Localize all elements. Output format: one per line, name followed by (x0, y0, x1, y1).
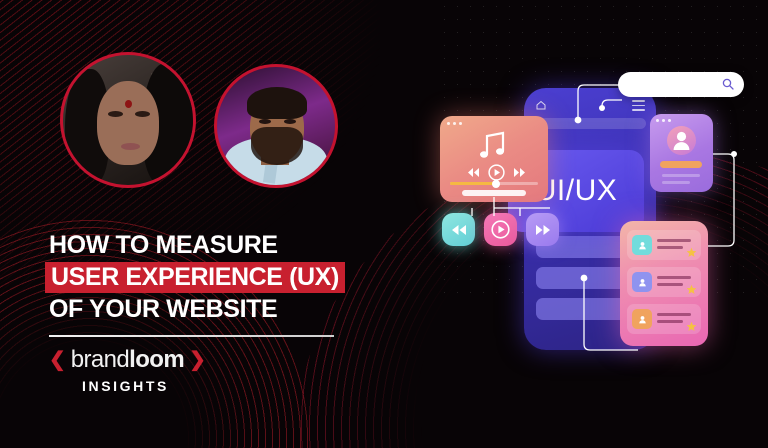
media-button-group (442, 213, 559, 246)
window-dots-icon (656, 119, 671, 122)
home-icon (536, 100, 546, 110)
search-icon (722, 78, 734, 90)
logo-tagline: INSIGHTS (82, 378, 169, 394)
music-player-card (440, 116, 548, 202)
avatar-group (60, 52, 338, 188)
progress-knob[interactable] (492, 180, 500, 188)
play-button[interactable] (484, 213, 517, 246)
headline-line-1: HOW TO MEASURE (49, 232, 369, 259)
rewind-icon (452, 225, 466, 235)
user-icon (632, 272, 652, 292)
headline-block: HOW TO MEASURE USER EXPERIENCE (UX) OF Y… (49, 232, 369, 323)
star-icon (686, 321, 697, 332)
logo-wordmark: brandloom (71, 348, 184, 372)
avatar-person-1 (60, 52, 196, 188)
ui-ux-illustration: UI/UX (432, 58, 762, 398)
banner-root: HOW TO MEASURE USER EXPERIENCE (UX) OF Y… (0, 0, 768, 448)
brandloom-logo: ❮ brandloom ❯ (49, 348, 206, 372)
music-card-pill-bar (462, 190, 526, 196)
review-list-card (620, 221, 708, 346)
profile-text-line (662, 174, 700, 177)
list-item[interactable] (627, 267, 701, 297)
list-item[interactable] (627, 304, 701, 334)
rewind-icon (468, 168, 479, 177)
phone-search-field (536, 118, 646, 129)
profile-card (650, 114, 713, 192)
star-icon (686, 247, 697, 258)
window-dots-icon (447, 122, 462, 125)
profile-action-pill[interactable] (660, 161, 702, 168)
progress-bar[interactable] (450, 182, 538, 185)
logo-word-bold: loom (129, 346, 184, 373)
fast-forward-icon (536, 225, 550, 235)
user-icon (632, 235, 652, 255)
user-avatar-icon (667, 126, 696, 155)
profile-text-line (662, 181, 690, 184)
rewind-button[interactable] (442, 213, 475, 246)
music-card-controls (468, 164, 525, 181)
divider-line (49, 335, 334, 337)
play-icon (488, 164, 505, 181)
bracket-right-icon: ❯ (189, 350, 206, 370)
list-item[interactable] (627, 230, 701, 260)
music-note-icon (476, 130, 510, 160)
user-icon (632, 309, 652, 329)
headline-line-3: OF YOUR WEBSITE (49, 296, 369, 323)
forward-button[interactable] (526, 213, 559, 246)
avatar-person-2 (214, 64, 338, 188)
headline-line-2-highlight: USER EXPERIENCE (UX) (45, 262, 345, 294)
hamburger-menu-icon (632, 100, 645, 114)
play-icon (491, 220, 510, 239)
bracket-left-icon: ❮ (49, 350, 66, 370)
star-icon (686, 284, 697, 295)
fast-forward-icon (514, 168, 525, 177)
logo-word-light: brand (71, 346, 129, 373)
search-bar[interactable] (618, 72, 744, 97)
